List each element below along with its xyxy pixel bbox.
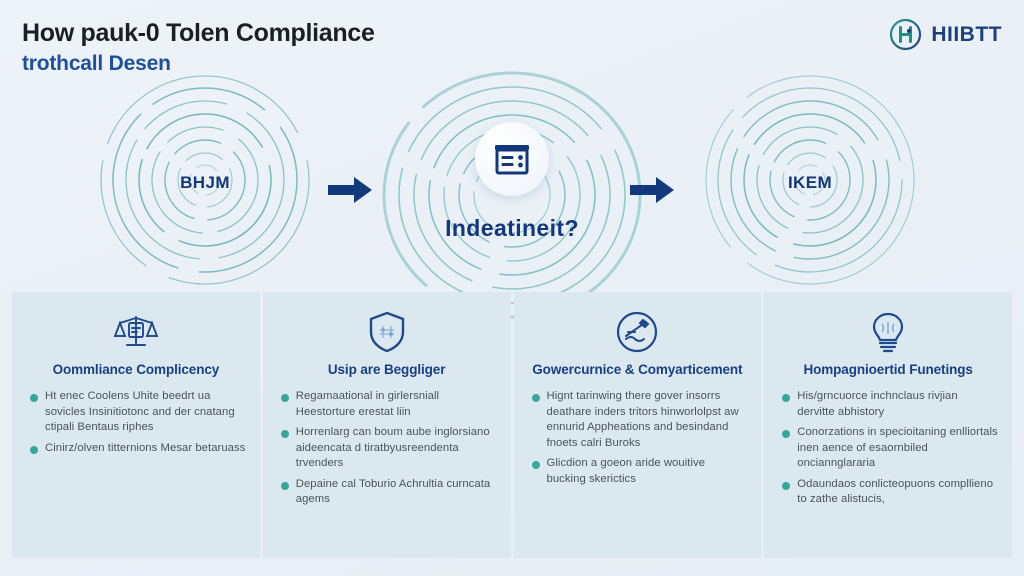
flow-node-center: Indeatineit? (372, 70, 652, 320)
brand-logo: HIIBTT (889, 18, 1002, 51)
info-card-title: Oommliance Complicency (53, 362, 220, 378)
bullet-text: Conorzations in specioitaning enlliortal… (797, 425, 998, 472)
list-item: Hignt tarinwing there gover insorrs deat… (532, 389, 748, 451)
bullet-text: Glicdion a goeon aride wouitive bucking … (547, 456, 748, 487)
info-card-bullets: Regamaational in girlersniall Heestortur… (277, 389, 497, 513)
bullet-dot-icon (782, 430, 790, 438)
bullet-dot-icon (782, 394, 790, 402)
info-card-security[interactable]: Usip are Beggliger Regamaational in girl… (263, 292, 511, 558)
bullet-text: Ht enec Coolens Uhite beedrt ua sovicles… (45, 389, 246, 436)
concentric-rings-icon (372, 70, 652, 325)
brand-logo-text: HIIBTT (931, 23, 1002, 47)
flow-node-center-label: Indeatineit? (372, 215, 652, 242)
info-card-bullets: Hignt tarinwing there gover insorrs deat… (528, 389, 748, 492)
list-item: Regamaational in girlersniall Heestortur… (281, 389, 497, 420)
arrow-right-icon (326, 175, 374, 210)
list-item: Depaine cal Toburio Achrultia curncata a… (281, 477, 497, 508)
page-title-line1: How pauk-0 Tolen Compliance (22, 18, 375, 48)
bullet-dot-icon (281, 482, 289, 490)
list-item: Conorzations in specioitaning enlliortal… (782, 425, 998, 472)
bullet-dot-icon (30, 446, 38, 454)
bullet-text: Cinirz/olven titternions Mesar betaruass (45, 441, 245, 457)
circle-h-logo-icon (889, 18, 922, 51)
bullet-dot-icon (532, 394, 540, 402)
bullet-text: Regamaational in girlersniall Heestortur… (296, 389, 497, 420)
info-card-title: Gowercurnice & Comyarticement (532, 362, 742, 378)
bullet-text: His/grncuorce inchnclaus rivjian dervitt… (797, 389, 998, 420)
process-flow-diagram: BHJM (0, 70, 1024, 290)
shield-icon (367, 309, 407, 355)
page-title: How pauk-0 Tolen Compliance trothcall De… (22, 18, 375, 78)
info-card-title: Usip are Beggliger (328, 362, 446, 378)
bullet-dot-icon (782, 482, 790, 490)
bullet-dot-icon (532, 461, 540, 469)
info-card-title: Hompagnioertid Funetings (803, 362, 972, 378)
info-card-insights[interactable]: Hompagnioertid Funetings His/grncuorce i… (764, 292, 1012, 558)
info-cards-row: Oommliance Complicency Ht enec Coolens U… (12, 292, 1012, 558)
signature-pen-circle-icon (615, 309, 659, 355)
flow-node-left: BHJM (95, 70, 315, 290)
info-card-governance[interactable]: Gowercurnice & Comyarticement Hignt tari… (514, 292, 762, 558)
list-item: Odaundaos conlicteopuons compllieno to z… (782, 477, 998, 508)
info-card-bullets: Ht enec Coolens Uhite beedrt ua sovicles… (26, 389, 246, 461)
list-item: His/grncuorce inchnclaus rivjian dervitt… (782, 389, 998, 420)
flow-node-left-label: BHJM (95, 173, 315, 193)
bullet-dot-icon (30, 394, 38, 402)
flow-node-right: IKEM (700, 70, 920, 290)
info-card-compliance[interactable]: Oommliance Complicency Ht enec Coolens U… (12, 292, 260, 558)
bullet-dot-icon (281, 394, 289, 402)
scales-balance-icon (113, 309, 159, 355)
bullet-text: Odaundaos conlicteopuons compllieno to z… (797, 477, 998, 508)
bullet-text: Depaine cal Toburio Achrultia curncata a… (296, 477, 497, 508)
list-item: Cinirz/olven titternions Mesar betaruass (30, 441, 246, 457)
bullet-dot-icon (281, 430, 289, 438)
list-item: Horrenlarg can boum aube inglorsiano aid… (281, 425, 497, 472)
bullet-text: Hignt tarinwing there gover insorrs deat… (547, 389, 748, 451)
list-item: Ht enec Coolens Uhite beedrt ua sovicles… (30, 389, 246, 436)
list-item: Glicdion a goeon aride wouitive bucking … (532, 456, 748, 487)
document-form-icon (475, 122, 549, 196)
flow-node-right-label: IKEM (700, 173, 920, 193)
bullet-text: Horrenlarg can boum aube inglorsiano aid… (296, 425, 497, 472)
arrow-right-icon (628, 175, 676, 210)
info-card-bullets: His/grncuorce inchnclaus rivjian dervitt… (778, 389, 998, 513)
lightbulb-idea-icon (868, 309, 908, 355)
